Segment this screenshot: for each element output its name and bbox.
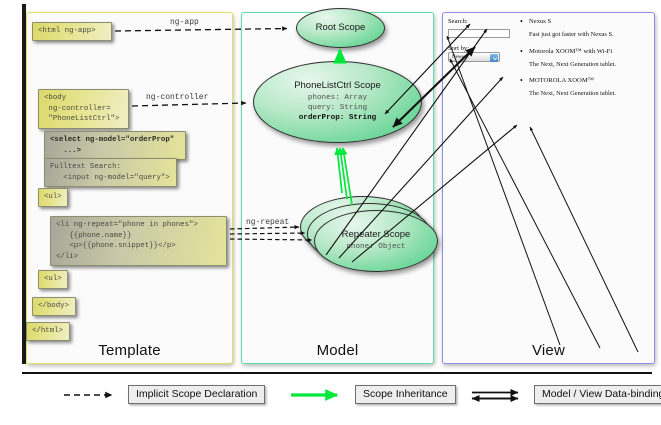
legend-scope-inheritance: Scope Inheritance: [287, 385, 456, 404]
legend-divider: [22, 372, 652, 374]
list-item[interactable]: Motorola XOOM™ with Wi-Fi The Next, Next…: [518, 48, 650, 68]
connector-label-ng-repeat: ng-repeat: [246, 218, 289, 227]
scope-props-repeater: phone: Object: [346, 243, 405, 253]
phone-snippet: The Next, Next Generation tablet.: [518, 90, 650, 97]
code-box-html-open: <html ng-app>: [32, 22, 112, 41]
code-box-li-ng-repeat: <li ng-repeat="phone in phones"> {{phone…: [50, 216, 227, 266]
panel-label-model: Model: [242, 342, 433, 359]
code-box-ul-close: <ul>: [38, 270, 68, 289]
connector-label-ng-controller: ng-controller: [146, 93, 208, 102]
view-mock-browser: Search: Sort by: Newest Nexus S Fast jus…: [448, 18, 650, 353]
scope-props-phonelistctrl: phones: Arrayquery: StringorderProp: Str…: [299, 94, 376, 124]
code-box-select-tag: <select ng-model="orderProp" ...>: [44, 131, 186, 160]
list-item[interactable]: Nexus S Fast just got faster with Nexus …: [518, 18, 650, 38]
phone-name: Nexus S: [518, 18, 650, 25]
scope-title-root: Root Scope: [316, 22, 366, 33]
phone-list: Nexus S Fast just got faster with Nexus …: [518, 18, 650, 107]
code-box-fulltext-search: Fulltext Search: <input ng-model="query"…: [44, 158, 177, 187]
prop-phones: phones: Array: [308, 94, 367, 102]
sort-by-selected-value: Newest: [452, 55, 467, 60]
chevron-down-icon: [490, 54, 498, 62]
dashed-arrow-icon: [60, 387, 122, 403]
sort-by-select[interactable]: Newest: [448, 52, 500, 62]
scope-title-phonelistctrl: PhoneListCtrl Scope: [294, 80, 381, 91]
phone-snippet: Fast just got faster with Nexus S.: [518, 31, 650, 38]
scope-ellipse-repeater: Repeater Scope phone: Object: [314, 210, 438, 272]
green-arrow-icon: [287, 387, 349, 403]
panel-label-template: Template: [27, 342, 232, 359]
list-item[interactable]: MOTOROLA XOOM™ The Next, Next Generation…: [518, 77, 650, 97]
code-box-body-close: </body>: [32, 297, 76, 316]
search-input[interactable]: [448, 29, 510, 38]
code-box-body-open: <body ng-controller= "PhoneListCtrl">: [38, 89, 129, 129]
legend-label-data-binding: Model / View Data-binding: [534, 385, 661, 404]
prop-query: query: String: [308, 104, 367, 112]
legend: Implicit Scope Declaration Scope Inherit…: [22, 382, 655, 412]
phone-snippet: The Next, Next Generation tablet.: [518, 61, 650, 68]
prop-orderprop: orderProp: String: [299, 114, 376, 122]
phone-name: Motorola XOOM™ with Wi-Fi: [518, 48, 650, 55]
scope-ellipse-phonelistctrl: PhoneListCtrl Scope phones: Arrayquery: …: [253, 61, 422, 143]
diagram-root: Template Model View <html ng-app> <body …: [0, 0, 661, 425]
legend-implicit-scope: Implicit Scope Declaration: [60, 385, 265, 404]
legend-data-binding: Model / View Data-binding: [470, 385, 661, 404]
code-box-ul-open: <ul>: [38, 188, 68, 207]
connector-label-ng-app: ng-app: [170, 18, 199, 27]
double-arrow-icon: [470, 387, 528, 403]
legend-label-scope-inheritance: Scope Inheritance: [355, 385, 456, 404]
legend-label-implicit-scope: Implicit Scope Declaration: [128, 385, 265, 404]
scope-title-repeater: Repeater Scope: [342, 229, 411, 240]
phone-name: MOTOROLA XOOM™: [518, 77, 650, 84]
code-box-html-close: </html>: [26, 322, 70, 341]
scope-ellipse-root: Root Scope: [296, 8, 385, 48]
